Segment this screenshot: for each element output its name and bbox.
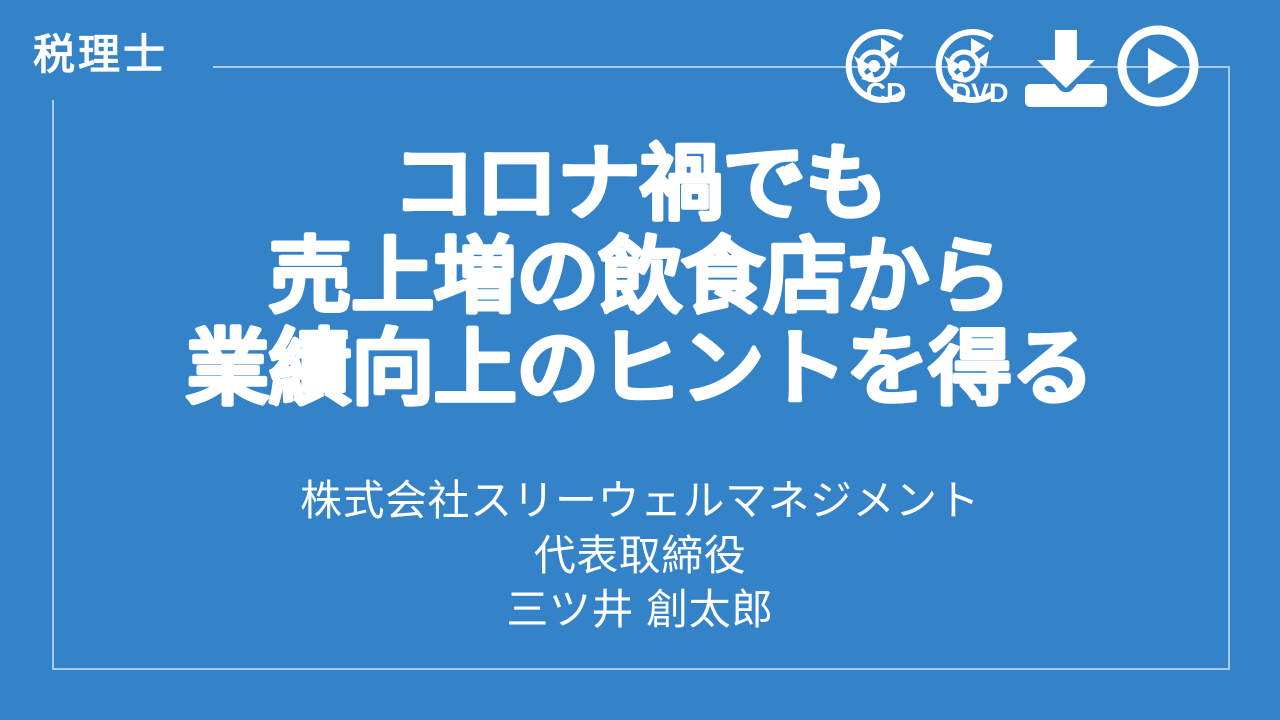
presenter-block: 株式会社スリーウェルマネジメント 代表取締役 三ツ井 創太郎 <box>0 474 1280 638</box>
dvd-label: DVD <box>951 78 1008 108</box>
cd-label: CD <box>866 77 906 108</box>
presenter-company: 株式会社スリーウェルマネジメント <box>0 474 1280 529</box>
frame-line-bottom <box>52 668 1230 670</box>
presenter-name: 三ツ井 創太郎 <box>0 583 1280 638</box>
headline: コロナ禍でも 売上増の飲食店から 業績向上のヒントを得る <box>0 138 1280 416</box>
headline-line-3: 業績向上のヒントを得る <box>0 323 1280 416</box>
category-label: 税理士 <box>33 34 168 76</box>
cd-disc-icon: CD <box>832 22 916 110</box>
headline-line-1: コロナ禍でも <box>0 138 1280 231</box>
media-format-icon-row: CD DVD <box>832 22 1202 110</box>
headline-line-2: 売上増の飲食店から <box>0 231 1280 324</box>
presenter-title: 代表取締役 <box>0 529 1280 584</box>
play-circle-icon <box>1114 22 1202 110</box>
dvd-disc-icon: DVD <box>922 22 1018 110</box>
download-icon <box>1024 22 1108 110</box>
seminar-title-slide: 税理士 CD <box>0 0 1280 720</box>
